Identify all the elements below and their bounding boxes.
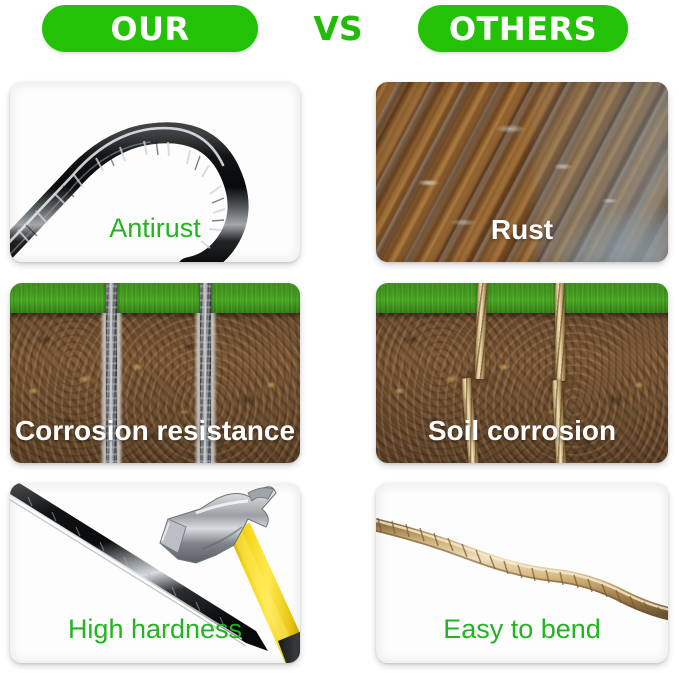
rebar-hook-illustration — [10, 82, 300, 262]
scene-corroded-stakes-in-soil — [376, 283, 668, 463]
rebar-hook-icon — [10, 82, 300, 262]
scene-rusted-rebar-stack — [376, 82, 668, 262]
scene-antirust-hook — [10, 82, 300, 262]
stake-and-hammer-illustration — [10, 483, 300, 663]
infographic-canvas: OUR VS OTHERS — [0, 0, 679, 673]
card-theirs-soil-corrosion: Soil corrosion — [376, 283, 668, 463]
comparison-header: OUR VS OTHERS — [0, 0, 679, 70]
card-ours-antirust: Antirust — [10, 82, 300, 262]
black-stake-left — [106, 283, 117, 463]
our-pill-label: OUR — [110, 13, 189, 45]
scene-bent-rebar — [376, 483, 668, 663]
bent-rebar-body — [376, 523, 668, 615]
vs-label: VS — [300, 8, 376, 50]
black-stake-right — [200, 283, 211, 463]
soil-layer — [10, 313, 300, 463]
grass-soil-seam — [10, 313, 300, 320]
card-ours-corrosion-resistance: Corrosion resistance — [10, 283, 300, 463]
card-theirs-easy-to-bend: Easy to bend — [376, 483, 668, 663]
others-pill: OTHERS — [418, 5, 628, 52]
card-theirs-rust: Rust — [376, 82, 668, 262]
scene-stake-and-hammer — [10, 483, 300, 663]
grass-layer — [376, 283, 668, 313]
bent-rebar-illustration — [376, 483, 668, 663]
grass-layer — [10, 283, 300, 313]
scene-black-stakes-in-soil — [10, 283, 300, 463]
rust-scale-flakes — [376, 82, 668, 262]
our-pill: OUR — [42, 5, 258, 52]
others-pill-label: OTHERS — [449, 13, 597, 45]
soil-layer — [376, 313, 668, 463]
card-ours-high-hardness: High hardness — [10, 483, 300, 663]
corroded-stake-right-upper — [554, 283, 565, 381]
grass-soil-seam — [376, 313, 668, 320]
